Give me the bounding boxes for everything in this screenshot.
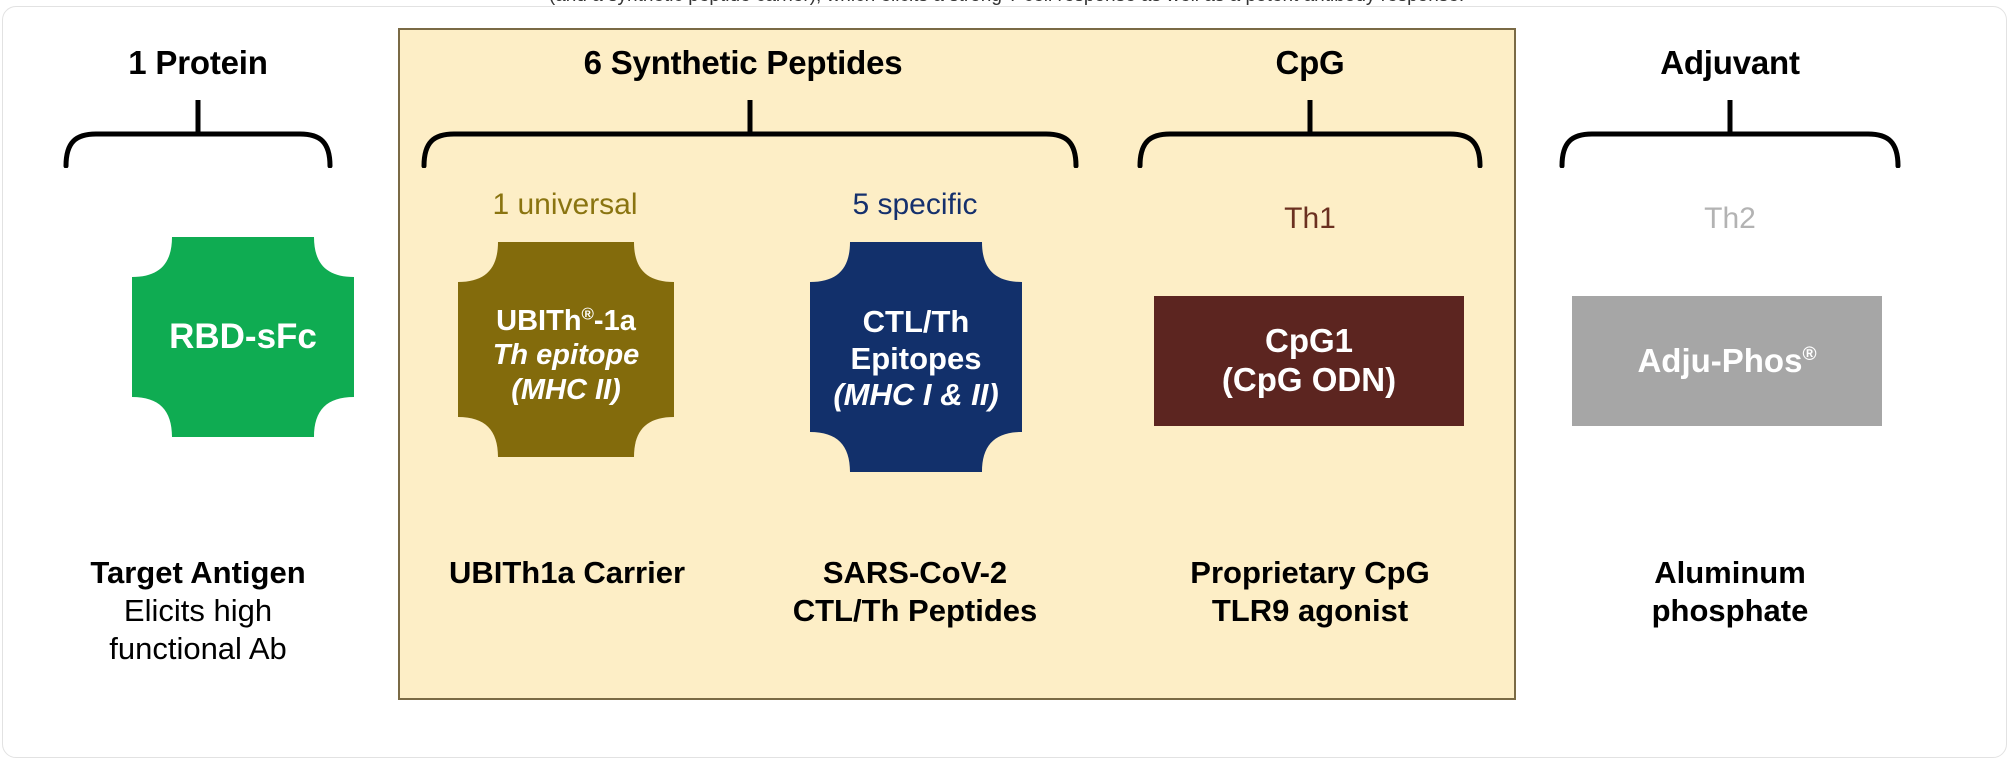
brace-protein bbox=[62, 100, 334, 168]
shape-ctl-th-epitopes[interactable]: CTL/Th Epitopes (MHC I & II) bbox=[810, 242, 1022, 472]
shape-line-2: Epitopes bbox=[814, 341, 1018, 378]
caption-cpg: Proprietary CpG TLR9 agonist bbox=[1120, 554, 1500, 630]
caption-line: TLR9 agonist bbox=[1120, 592, 1500, 630]
column-title-cpg: CpG bbox=[1120, 44, 1500, 82]
caption-line: Elicits high bbox=[26, 592, 370, 630]
shape-line-1: UBITh®-1a bbox=[462, 304, 670, 338]
caption-ctl-th: SARS-CoV-2 CTL/Th Peptides bbox=[750, 554, 1080, 630]
caption-line: Proprietary CpG bbox=[1120, 554, 1500, 592]
shape-line: RBD-sFc bbox=[136, 316, 350, 357]
shape-cpg1-label: CpG1 (CpG ODN) bbox=[1154, 322, 1464, 400]
shape-adju-phos[interactable]: Adju-Phos® bbox=[1572, 296, 1882, 426]
shape-line-text: UBITh®-1a bbox=[496, 305, 636, 337]
registered-trademark-mark: ® bbox=[1802, 344, 1816, 365]
shape-line-2: Th epitope bbox=[462, 338, 670, 372]
caption-bold-ubith: UBITh1a Carrier bbox=[422, 554, 712, 592]
registered-trademark-mark: ® bbox=[582, 305, 594, 324]
column-ctl-th: 5 specific CTL/Th Epitopes (MHC I & II) … bbox=[790, 0, 1040, 766]
sublabel-specific: 5 specific bbox=[790, 188, 1040, 222]
caption-line: phosphate bbox=[1530, 592, 1930, 630]
caption-line: Aluminum bbox=[1530, 554, 1930, 592]
sublabel-th1: Th1 bbox=[1120, 202, 1500, 236]
shape-rbd-sfc[interactable]: RBD-sFc bbox=[132, 237, 354, 437]
figure-canvas: (and a synthetic peptide carrier), which… bbox=[0, 0, 2013, 766]
caption-line: CTL/Th Peptides bbox=[750, 592, 1080, 630]
shape-cpg1[interactable]: CpG1 (CpG ODN) bbox=[1154, 296, 1464, 426]
shape-ubith-1a[interactable]: UBITh®-1a Th epitope (MHC II) bbox=[458, 242, 674, 457]
caption-protein: Target Antigen Elicits high functional A… bbox=[26, 554, 370, 667]
column-protein: 1 Protein RBD-sFc Target Antigen Elicits… bbox=[26, 0, 370, 766]
shape-line-3: (MHC I & II) bbox=[814, 377, 1018, 414]
column-cpg: CpG Th1 CpG1 (CpG ODN) Proprietary CpG T… bbox=[1120, 0, 1500, 766]
shape-adju-phos-label: Adju-Phos® bbox=[1572, 342, 1882, 381]
column-title-adjuvant: Adjuvant bbox=[1530, 44, 1930, 82]
sublabel-universal: 1 universal bbox=[430, 188, 700, 222]
shape-line-2: (CpG ODN) bbox=[1158, 361, 1460, 400]
shape-ctl-th-epitopes-label: CTL/Th Epitopes (MHC I & II) bbox=[810, 304, 1022, 414]
shape-ubith-1a-label: UBITh®-1a Th epitope (MHC II) bbox=[458, 304, 674, 407]
caption-ubith: UBITh1a Carrier bbox=[422, 554, 712, 592]
caption-line: functional Ab bbox=[26, 630, 370, 668]
shape-line-text: Adju-Phos® bbox=[1637, 342, 1816, 379]
column-title-protein: 1 Protein bbox=[26, 44, 370, 82]
shape-line-1: Adju-Phos® bbox=[1576, 342, 1878, 381]
brace-cpg bbox=[1136, 100, 1484, 168]
caption-bold-protein: Target Antigen bbox=[26, 554, 370, 592]
column-adjuvant: Adjuvant Th2 Adju-Phos® Aluminum phospha… bbox=[1530, 0, 1930, 766]
caption-adjuvant: Aluminum phosphate bbox=[1530, 554, 1930, 630]
caption-line: SARS-CoV-2 bbox=[750, 554, 1080, 592]
shape-line-1: CpG1 bbox=[1158, 322, 1460, 361]
shape-line-1: CTL/Th bbox=[814, 304, 1018, 341]
shape-line-3: (MHC II) bbox=[462, 373, 670, 407]
shape-rbd-sfc-label: RBD-sFc bbox=[132, 316, 354, 357]
brace-adjuvant bbox=[1558, 100, 1902, 168]
sublabel-th2: Th2 bbox=[1530, 202, 1930, 236]
column-ubith: 1 universal UBITh®-1a Th epitope (MHC II… bbox=[430, 0, 700, 766]
